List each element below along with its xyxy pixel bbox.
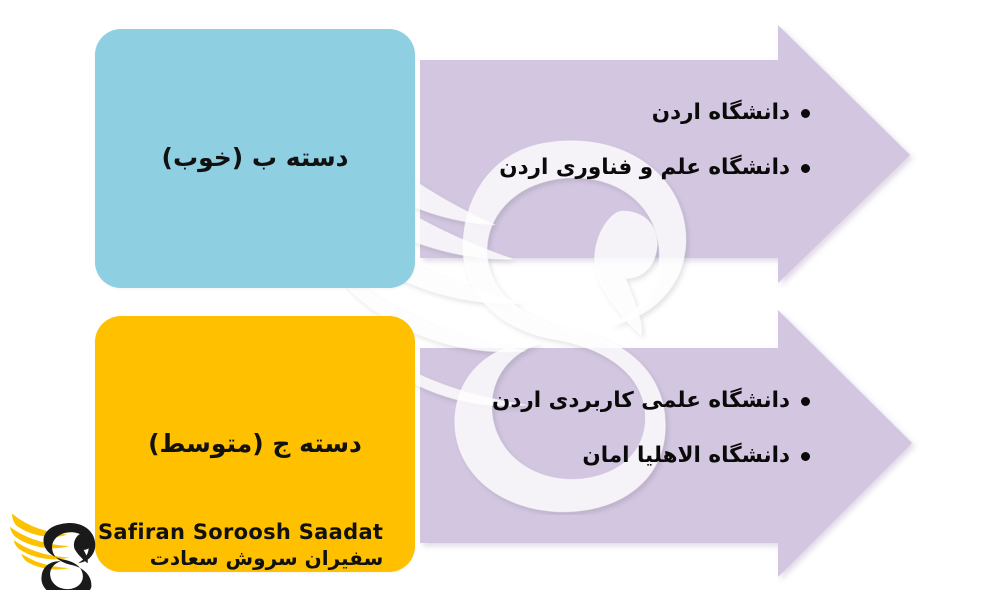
bullet-dot-icon bbox=[801, 397, 810, 406]
brand-name-persian: سفیران سروش سعادت bbox=[98, 548, 383, 568]
bullet-dot-icon bbox=[801, 452, 810, 461]
university-name: دانشگاه اردن bbox=[652, 100, 790, 127]
list-item: دانشگاه الاهلیا امان bbox=[492, 443, 810, 470]
university-name: دانشگاه الاهلیا امان bbox=[582, 443, 790, 470]
university-list-medium: دانشگاه علمی کاربردی اردن دانشگاه الاهلی… bbox=[492, 388, 810, 498]
bullet-dot-icon bbox=[801, 164, 810, 173]
category-label-good: دسته ب (خوب) bbox=[162, 142, 349, 175]
list-item: دانشگاه علمی کاربردی اردن bbox=[492, 388, 810, 415]
bullet-dot-icon bbox=[801, 109, 810, 118]
university-name: دانشگاه علمی کاربردی اردن bbox=[492, 388, 790, 415]
category-box-good[interactable]: دسته ب (خوب) bbox=[95, 29, 415, 288]
infographic-canvas: دسته ب (خوب) دسته ج (متوسط) دانشگاه اردن… bbox=[0, 0, 1000, 600]
list-item: دانشگاه علم و فناوری اردن bbox=[499, 155, 810, 182]
swan-wing-logo-icon bbox=[8, 504, 104, 590]
university-list-good: دانشگاه اردن دانشگاه علم و فناوری اردن bbox=[499, 100, 810, 210]
brand-logo: Safiran Soroosh Saadat سفیران سروش سعادت bbox=[8, 504, 383, 590]
list-item: دانشگاه اردن bbox=[499, 100, 810, 127]
brand-words: Safiran Soroosh Saadat سفیران سروش سعادت bbox=[98, 522, 383, 568]
brand-name-latin: Safiran Soroosh Saadat bbox=[98, 522, 383, 543]
category-label-medium: دسته ج (متوسط) bbox=[148, 428, 362, 461]
university-name: دانشگاه علم و فناوری اردن bbox=[499, 155, 790, 182]
